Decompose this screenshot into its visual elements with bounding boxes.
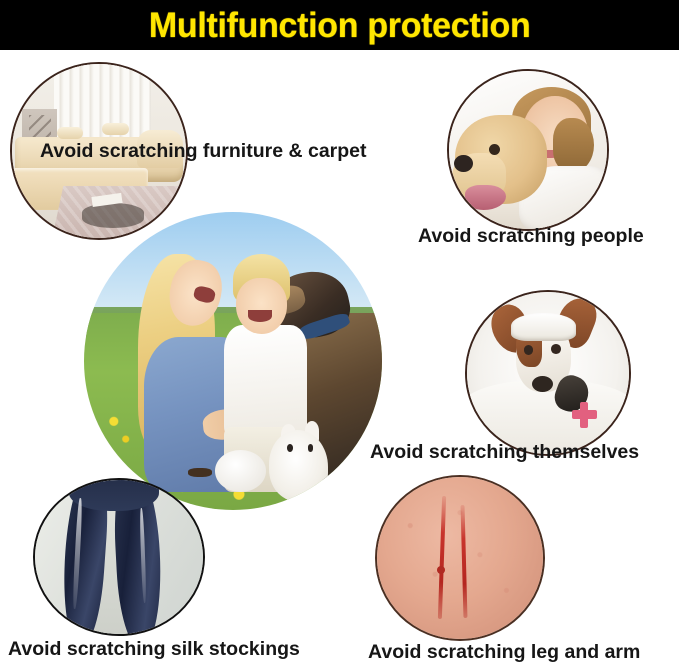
white-cushion (215, 450, 266, 492)
terrier-eye-right (551, 344, 561, 354)
photo-dog-with-girl (447, 69, 609, 231)
photo-bandaged-dog (465, 290, 631, 456)
page-title: Multifunction protection (149, 8, 530, 43)
boy-white-shirt (224, 325, 307, 438)
bedroom-scene (449, 71, 607, 229)
stockings-scene (35, 480, 203, 634)
caption-furniture: Avoid scratching furniture & carpet (40, 142, 367, 162)
puppy-eye-left (287, 444, 293, 451)
retriever-eye (489, 144, 500, 155)
sofa-headrest-right (102, 123, 128, 135)
vet-scene (467, 292, 629, 454)
caption-silk-stockings: Avoid scratching silk stockings (8, 640, 300, 660)
boy-face (236, 278, 287, 335)
sofa-headrest-left (57, 127, 83, 139)
caption-themselves: Avoid scratching themselves (370, 443, 639, 463)
bandage-cross-horizontal (572, 410, 596, 419)
caption-people: Avoid scratching people (418, 227, 644, 247)
bracelet (188, 468, 212, 477)
photo-family-with-dog (84, 212, 382, 510)
head-bandage (511, 313, 576, 341)
meadow-scene (84, 212, 382, 510)
stocking-upper (69, 478, 160, 511)
skin-surface (377, 477, 543, 639)
retriever-nose (454, 155, 473, 172)
skin-scene (377, 477, 543, 639)
header-banner: Multifunction protection (0, 0, 679, 50)
white-puppy (269, 430, 329, 502)
photo-silk-stockings (33, 478, 205, 636)
photo-scratched-skin (375, 475, 545, 641)
caption-leg-and-arm: Avoid scratching leg and arm (368, 643, 640, 663)
